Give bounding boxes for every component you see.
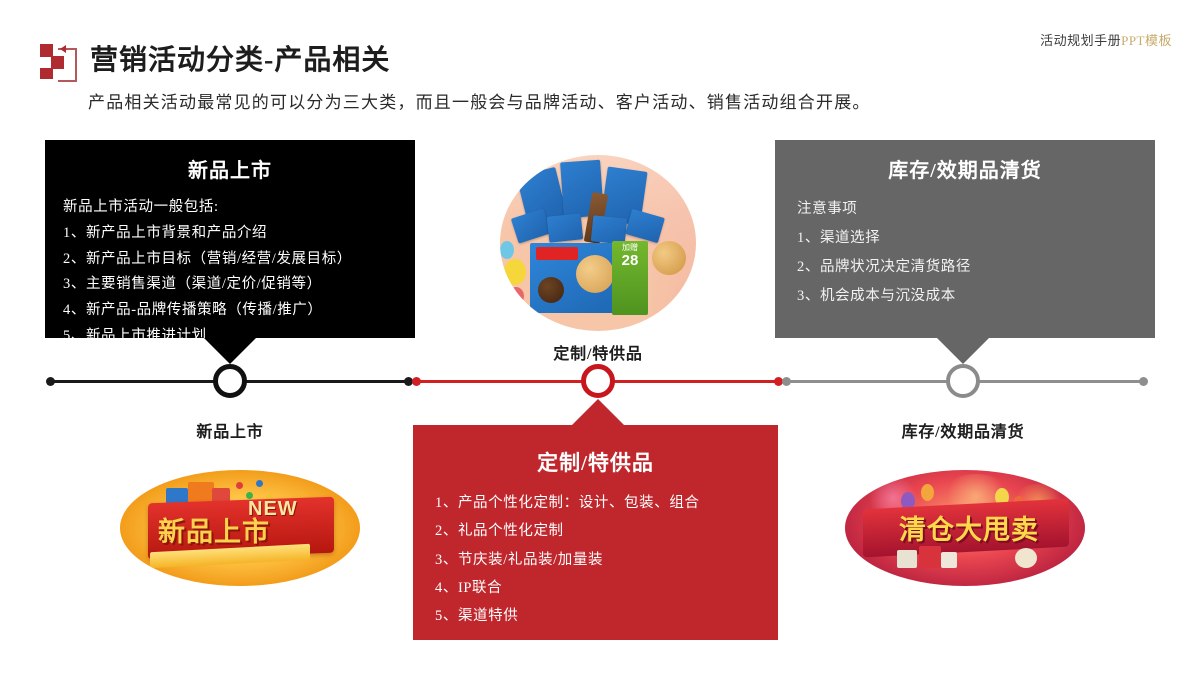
panel-new-product-body: 新品上市活动一般包括: 1、新产品上市背景和产品介绍 2、新产品上市目标（营销/… [45, 195, 415, 350]
bonus-badge-label: 加赠 [622, 243, 638, 252]
panel-clearance-intro: 注意事项 [797, 195, 1155, 224]
panel-new-product: 新品上市 新品上市活动一般包括: 1、新产品上市背景和产品介绍 2、新产品上市目… [45, 140, 415, 338]
clearance-cn-text: 清仓大甩卖 [869, 508, 1069, 547]
balloon-decoration [921, 484, 934, 501]
slide-root: 活动规划手册PPT模板 营销活动分类-产品相关 产品相关活动最常见的可以分为三大… [0, 0, 1200, 675]
panel-clearance-pointer [937, 338, 989, 364]
list-item: 2、新产品上市目标（营销/经营/发展目标） [63, 247, 415, 273]
cookie-product-photo: 加赠 28 [500, 155, 696, 331]
list-item: 2、品牌状况决定清货路径 [797, 253, 1155, 282]
page-title: 营销活动分类-产品相关 [90, 38, 390, 78]
page-subtitle: 产品相关活动最常见的可以分为三大类，而且一般会与品牌活动、客户活动、销售活动组合… [88, 88, 871, 113]
cookie-graphic [652, 241, 686, 275]
center-image-caption: 定制/特供品 [498, 340, 698, 364]
brand-name-gold: PPT模板 [1121, 33, 1172, 48]
cookie-pack [547, 213, 584, 242]
icon-arrow-left [60, 45, 66, 53]
panel-clearance: 库存/效期品清货 注意事项 1、渠道选择 2、品牌状况决定清货路径 3、机会成本… [775, 140, 1155, 338]
balloon-decoration [504, 259, 526, 285]
new-product-launch-poster: 新品上市 NEW [120, 470, 360, 586]
timeline-label-3: 库存/效期品清货 [863, 418, 1063, 442]
list-item: 3、节庆装/礼品装/加量装 [435, 546, 778, 574]
timeline-dot [1139, 377, 1148, 386]
cookie-graphic [576, 255, 614, 293]
cookie-pack [625, 209, 665, 243]
brand-header: 活动规划手册PPT模板 [1040, 30, 1172, 49]
timeline-dot [782, 377, 791, 386]
list-item: 1、产品个性化定制：设计、包装、组合 [435, 489, 778, 517]
bonus-badge: 加赠 28 [612, 241, 648, 315]
icon-square-bottom [40, 68, 53, 79]
panel-new-product-heading: 新品上市 [45, 154, 415, 183]
bonus-badge-number: 28 [612, 253, 648, 269]
panel-custom-body: 1、产品个性化定制：设计、包装、组合 2、礼品个性化定制 3、节庆装/礼品装/加… [413, 489, 778, 630]
panel-new-product-intro: 新品上市活动一般包括: [63, 195, 415, 221]
panel-clearance-heading: 库存/效期品清货 [775, 154, 1155, 183]
timeline-dot [46, 377, 55, 386]
icon-bracket [58, 48, 77, 82]
panel-custom-pointer [572, 399, 624, 425]
panel-clearance-body: 注意事项 1、渠道选择 2、品牌状况决定清货路径 3、机会成本与沉没成本 [775, 195, 1155, 311]
cookie-graphic [538, 277, 564, 303]
list-item: 3、主要销售渠道（渠道/定价/促销等） [63, 272, 415, 298]
list-item: 1、渠道选择 [797, 224, 1155, 253]
list-item: 5、渠道特供 [435, 602, 778, 630]
balloon-decoration [500, 241, 514, 259]
new-product-en-text: NEW [248, 498, 298, 521]
cookie-box-logo [536, 247, 578, 260]
timeline-node-3[interactable] [946, 364, 980, 398]
new-product-text-group: 新品上市 NEW [120, 470, 360, 586]
gift-box-icon [919, 546, 941, 568]
timeline-node-2[interactable] [581, 364, 615, 398]
panel-custom: 定制/特供品 1、产品个性化定制：设计、包装、组合 2、礼品个性化定制 3、节庆… [413, 425, 778, 640]
list-item: 4、新产品-品牌传播策略（传播/推广） [63, 298, 415, 324]
brand-name-dark: 活动规划手册 [1040, 33, 1121, 48]
panel-new-product-pointer [204, 338, 256, 364]
timeline-node-1[interactable] [213, 364, 247, 398]
three-squares-bracket-icon [40, 42, 78, 76]
balloon-decoration [508, 287, 524, 305]
list-item: 2、礼品个性化定制 [435, 517, 778, 545]
list-item: 4、IP联合 [435, 574, 778, 602]
gift-box-icon [1015, 548, 1037, 568]
cookie-pack [511, 208, 551, 243]
list-item: 1、新产品上市背景和产品介绍 [63, 221, 415, 247]
timeline-dot [412, 377, 421, 386]
clearance-sale-poster: 清仓大甩卖 [845, 470, 1085, 586]
list-item: 3、机会成本与沉没成本 [797, 282, 1155, 311]
timeline-label-1: 新品上市 [130, 418, 330, 442]
panel-custom-heading: 定制/特供品 [413, 447, 778, 477]
gift-box-icon [941, 552, 957, 568]
gift-box-icon [897, 550, 917, 568]
